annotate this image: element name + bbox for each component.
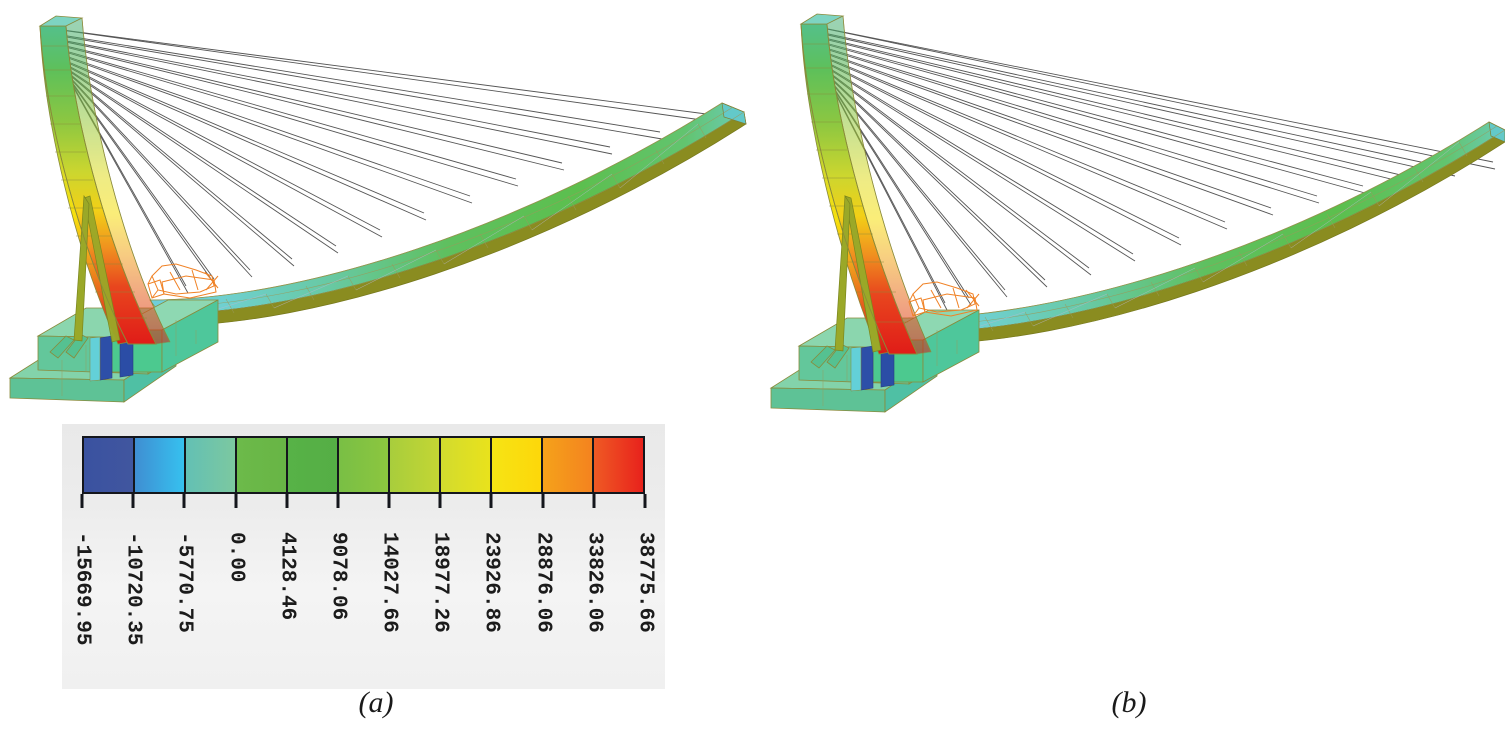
bridge-deck-b [909,122,1505,344]
color-band-1 [84,438,135,492]
color-band-5 [288,438,339,492]
color-bar-tick-label: 0.00 [224,532,247,582]
bridge-model-svg-a [0,0,752,420]
color-bar-tick-label: -5770.75 [173,532,196,633]
color-bar-tick [132,494,135,508]
color-bar-tick [285,494,288,508]
color-bar-tick-label: 33826.06 [582,532,605,633]
figure-panel-a: -15669.95-10720.35-5770.750.004128.46907… [0,0,752,734]
color-bar-tick [388,494,391,508]
bridge-model-b [753,0,1505,420]
color-bar-tick [234,494,237,508]
color-band-11 [594,438,643,492]
color-bar-tick [183,494,186,508]
cable-group-b [808,25,1495,310]
color-bar-tick-label: 9078.06 [326,532,349,620]
color-legend-a: -15669.95-10720.35-5770.750.004128.46907… [62,424,665,689]
color-bar-tick-label: 38775.66 [634,532,657,633]
color-bar-tick-label: 14027.66 [378,532,401,633]
color-bar-tick-label: 4128.46 [275,532,298,620]
color-band-3 [186,438,237,492]
color-bar-tick-label: 28876.06 [531,532,554,633]
cable-group-a [47,28,716,293]
color-band-8 [441,438,492,492]
color-bar-tick-label: -10720.35 [122,532,145,645]
color-bar-tick [541,494,544,508]
pylon-tower-b [801,14,931,354]
bridge-model-svg-b [753,0,1505,420]
color-band-2 [135,438,186,492]
color-bar-labels-a: -15669.95-10720.35-5770.750.004128.46907… [82,532,645,692]
color-band-7 [390,438,441,492]
color-band-6 [339,438,390,492]
color-bar-tick [644,494,647,508]
panel-caption-a: (a) [0,686,752,720]
color-band-10 [543,438,594,492]
color-bar-tick [592,494,595,508]
figure-panel-b: -15669.95-9847.43-4024.910.007620.141344… [753,0,1505,734]
color-bar-tick-label: -15669.95 [71,532,94,645]
color-band-9 [492,438,543,492]
color-bar-ticks-a [82,494,645,508]
color-bar-a [82,436,645,494]
color-bar-tick [336,494,339,508]
color-bar-tick-label: 18977.26 [429,532,452,633]
panel-caption-b: (b) [753,686,1505,720]
color-band-4 [237,438,288,492]
color-bar-tick [490,494,493,508]
color-bar-tick-label: 23926.86 [480,532,503,633]
bridge-model-a [0,0,752,420]
color-bar-tick [81,494,84,508]
color-bar-tick [439,494,442,508]
